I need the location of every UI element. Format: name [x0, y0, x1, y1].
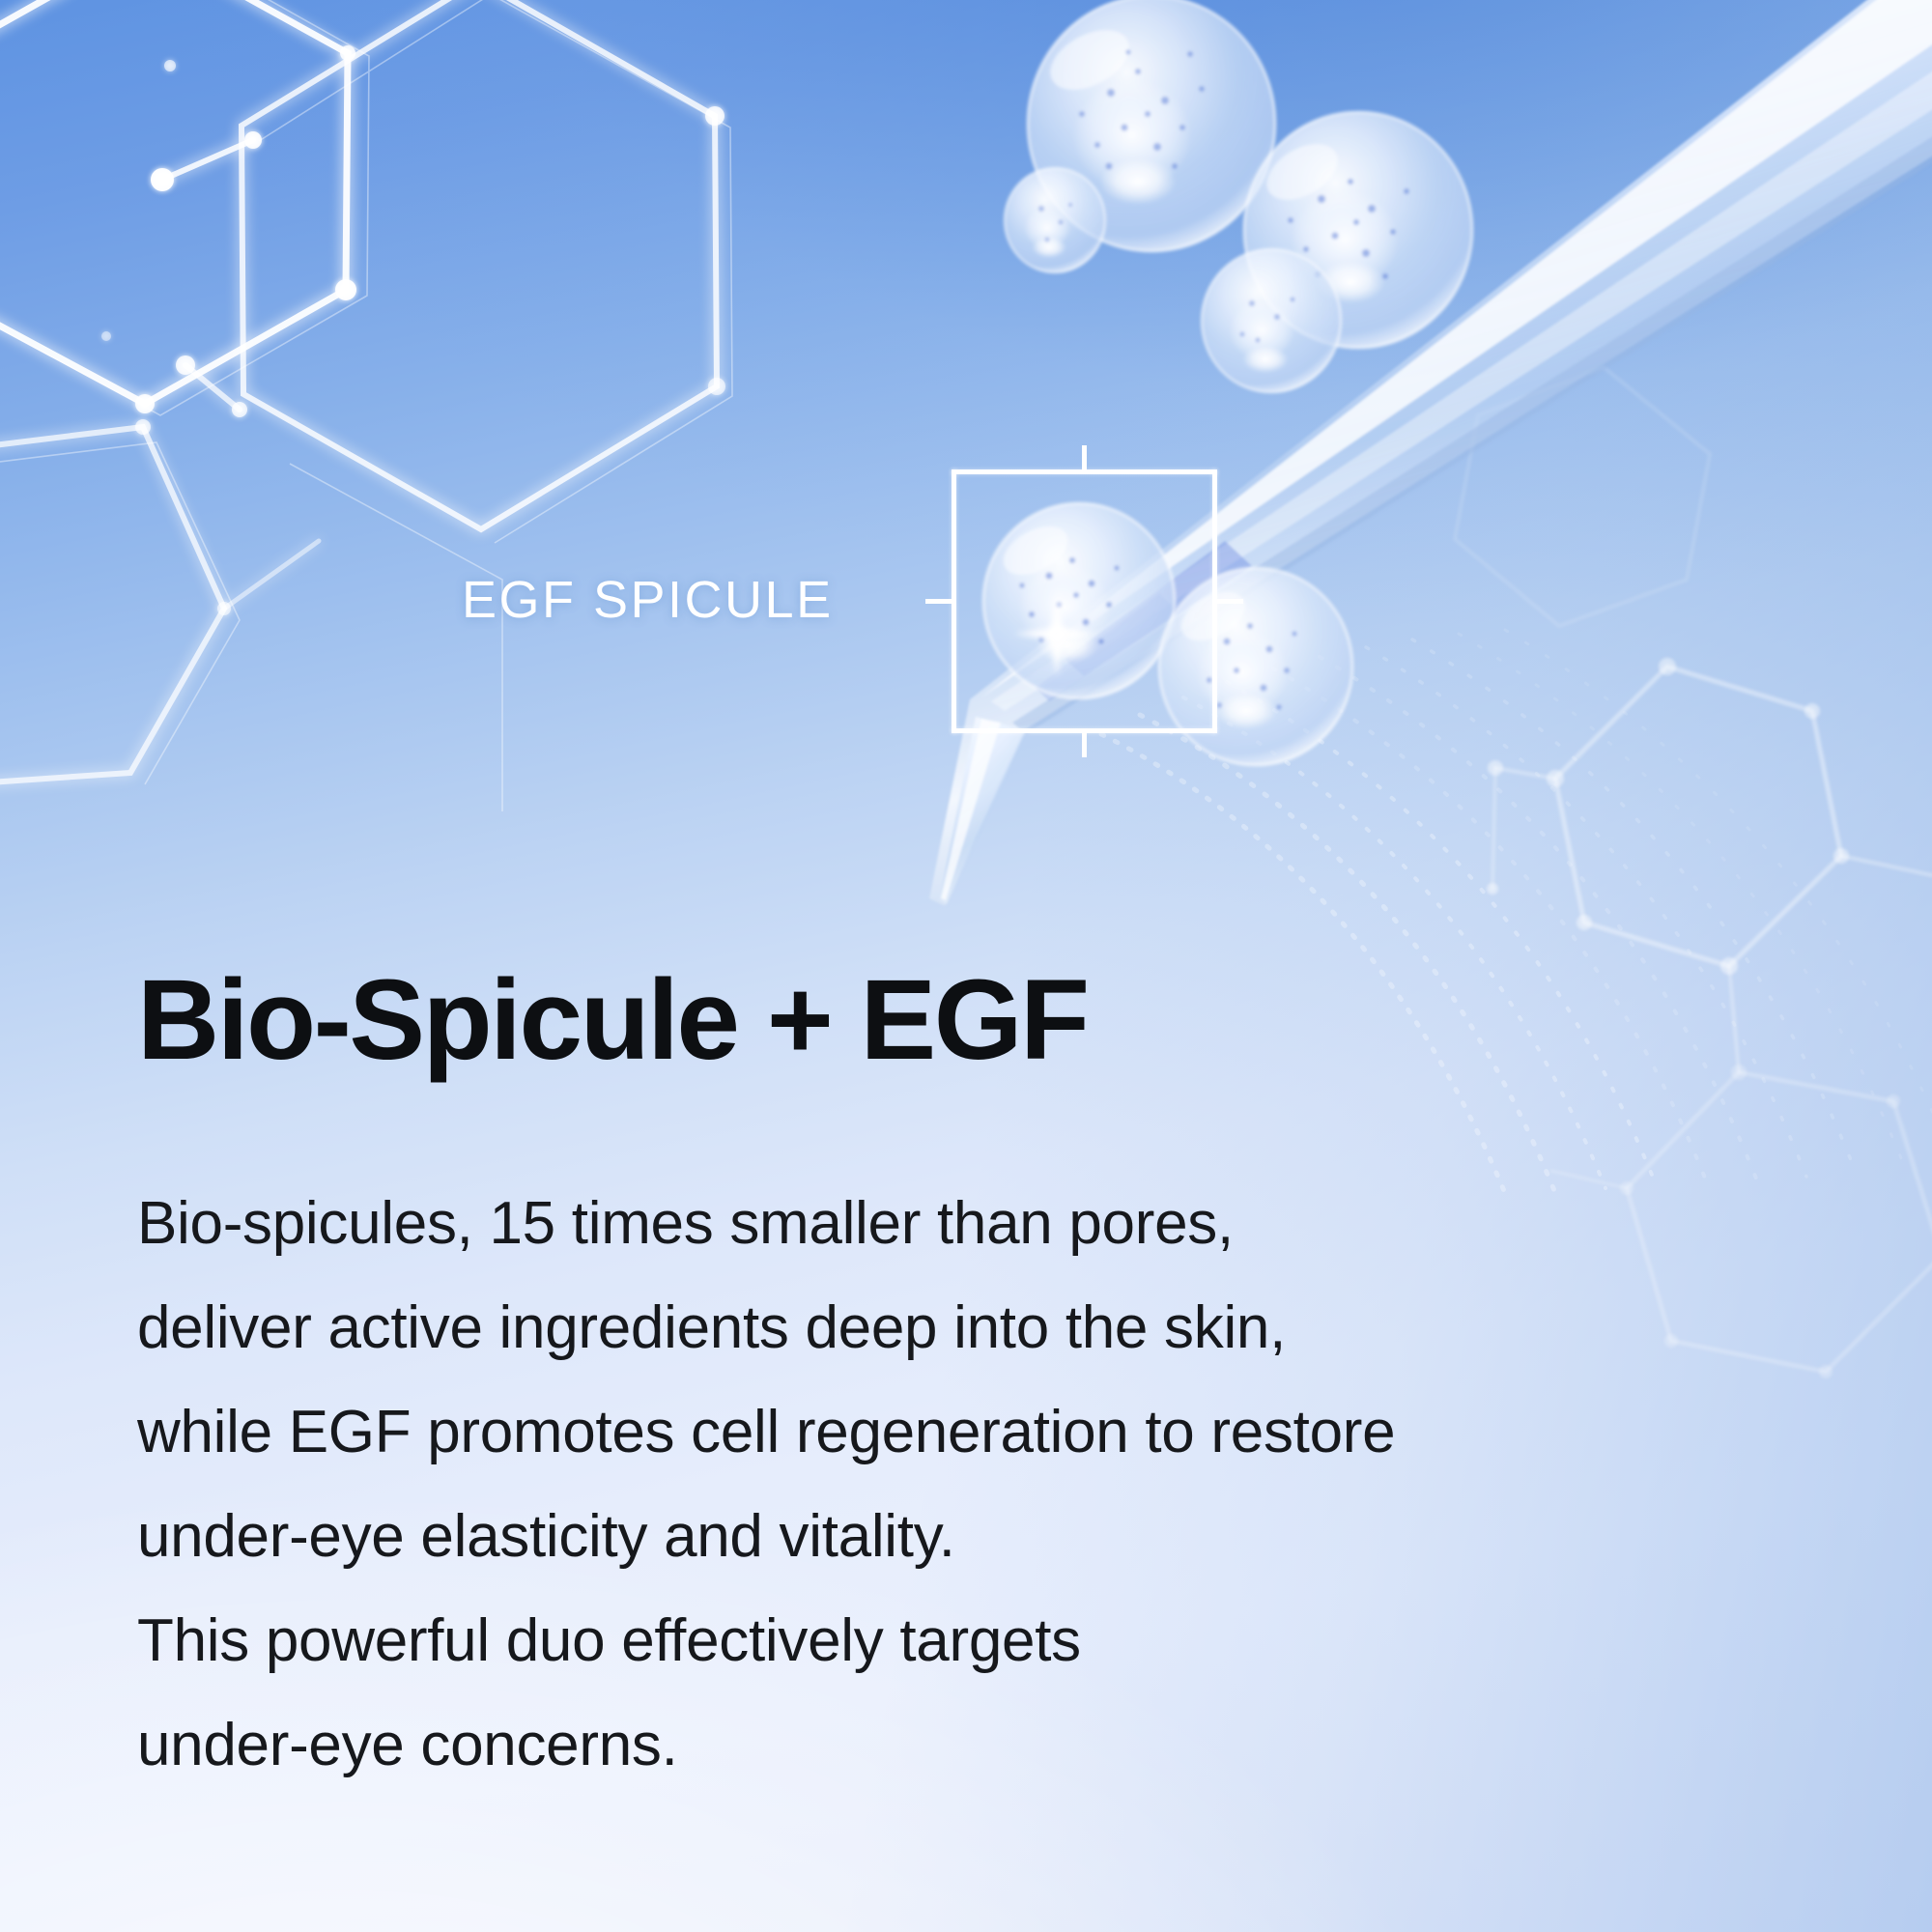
egf-spicule-label: EGF SPICULE: [462, 570, 834, 630]
body-line: This powerful duo effectively targets: [137, 1589, 1837, 1693]
frame-tick-top: [1082, 445, 1087, 470]
frame-tick-bottom: [1082, 732, 1087, 757]
body-line: while EGF promotes cell regeneration to …: [137, 1380, 1837, 1485]
focus-frame-icon: [952, 469, 1217, 733]
product-infographic: EGF SPICULE Bio-Spicule + EGF Bio-spicul…: [0, 0, 1932, 1932]
body-line: Bio-spicules, 15 times smaller than pore…: [137, 1172, 1837, 1276]
body-line: under-eye elasticity and vitality.: [137, 1485, 1837, 1589]
frame-tick-left: [925, 599, 952, 604]
body-line: under-eye concerns.: [137, 1693, 1837, 1798]
text-block: Bio-Spicule + EGF Bio-spicules, 15 times…: [137, 961, 1837, 1798]
body-line: deliver active ingredients deep into the…: [137, 1276, 1837, 1380]
body-copy: Bio-spicules, 15 times smaller than pore…: [137, 1080, 1837, 1798]
page-title: Bio-Spicule + EGF: [137, 961, 1837, 1080]
frame-tick-right: [1216, 599, 1243, 604]
